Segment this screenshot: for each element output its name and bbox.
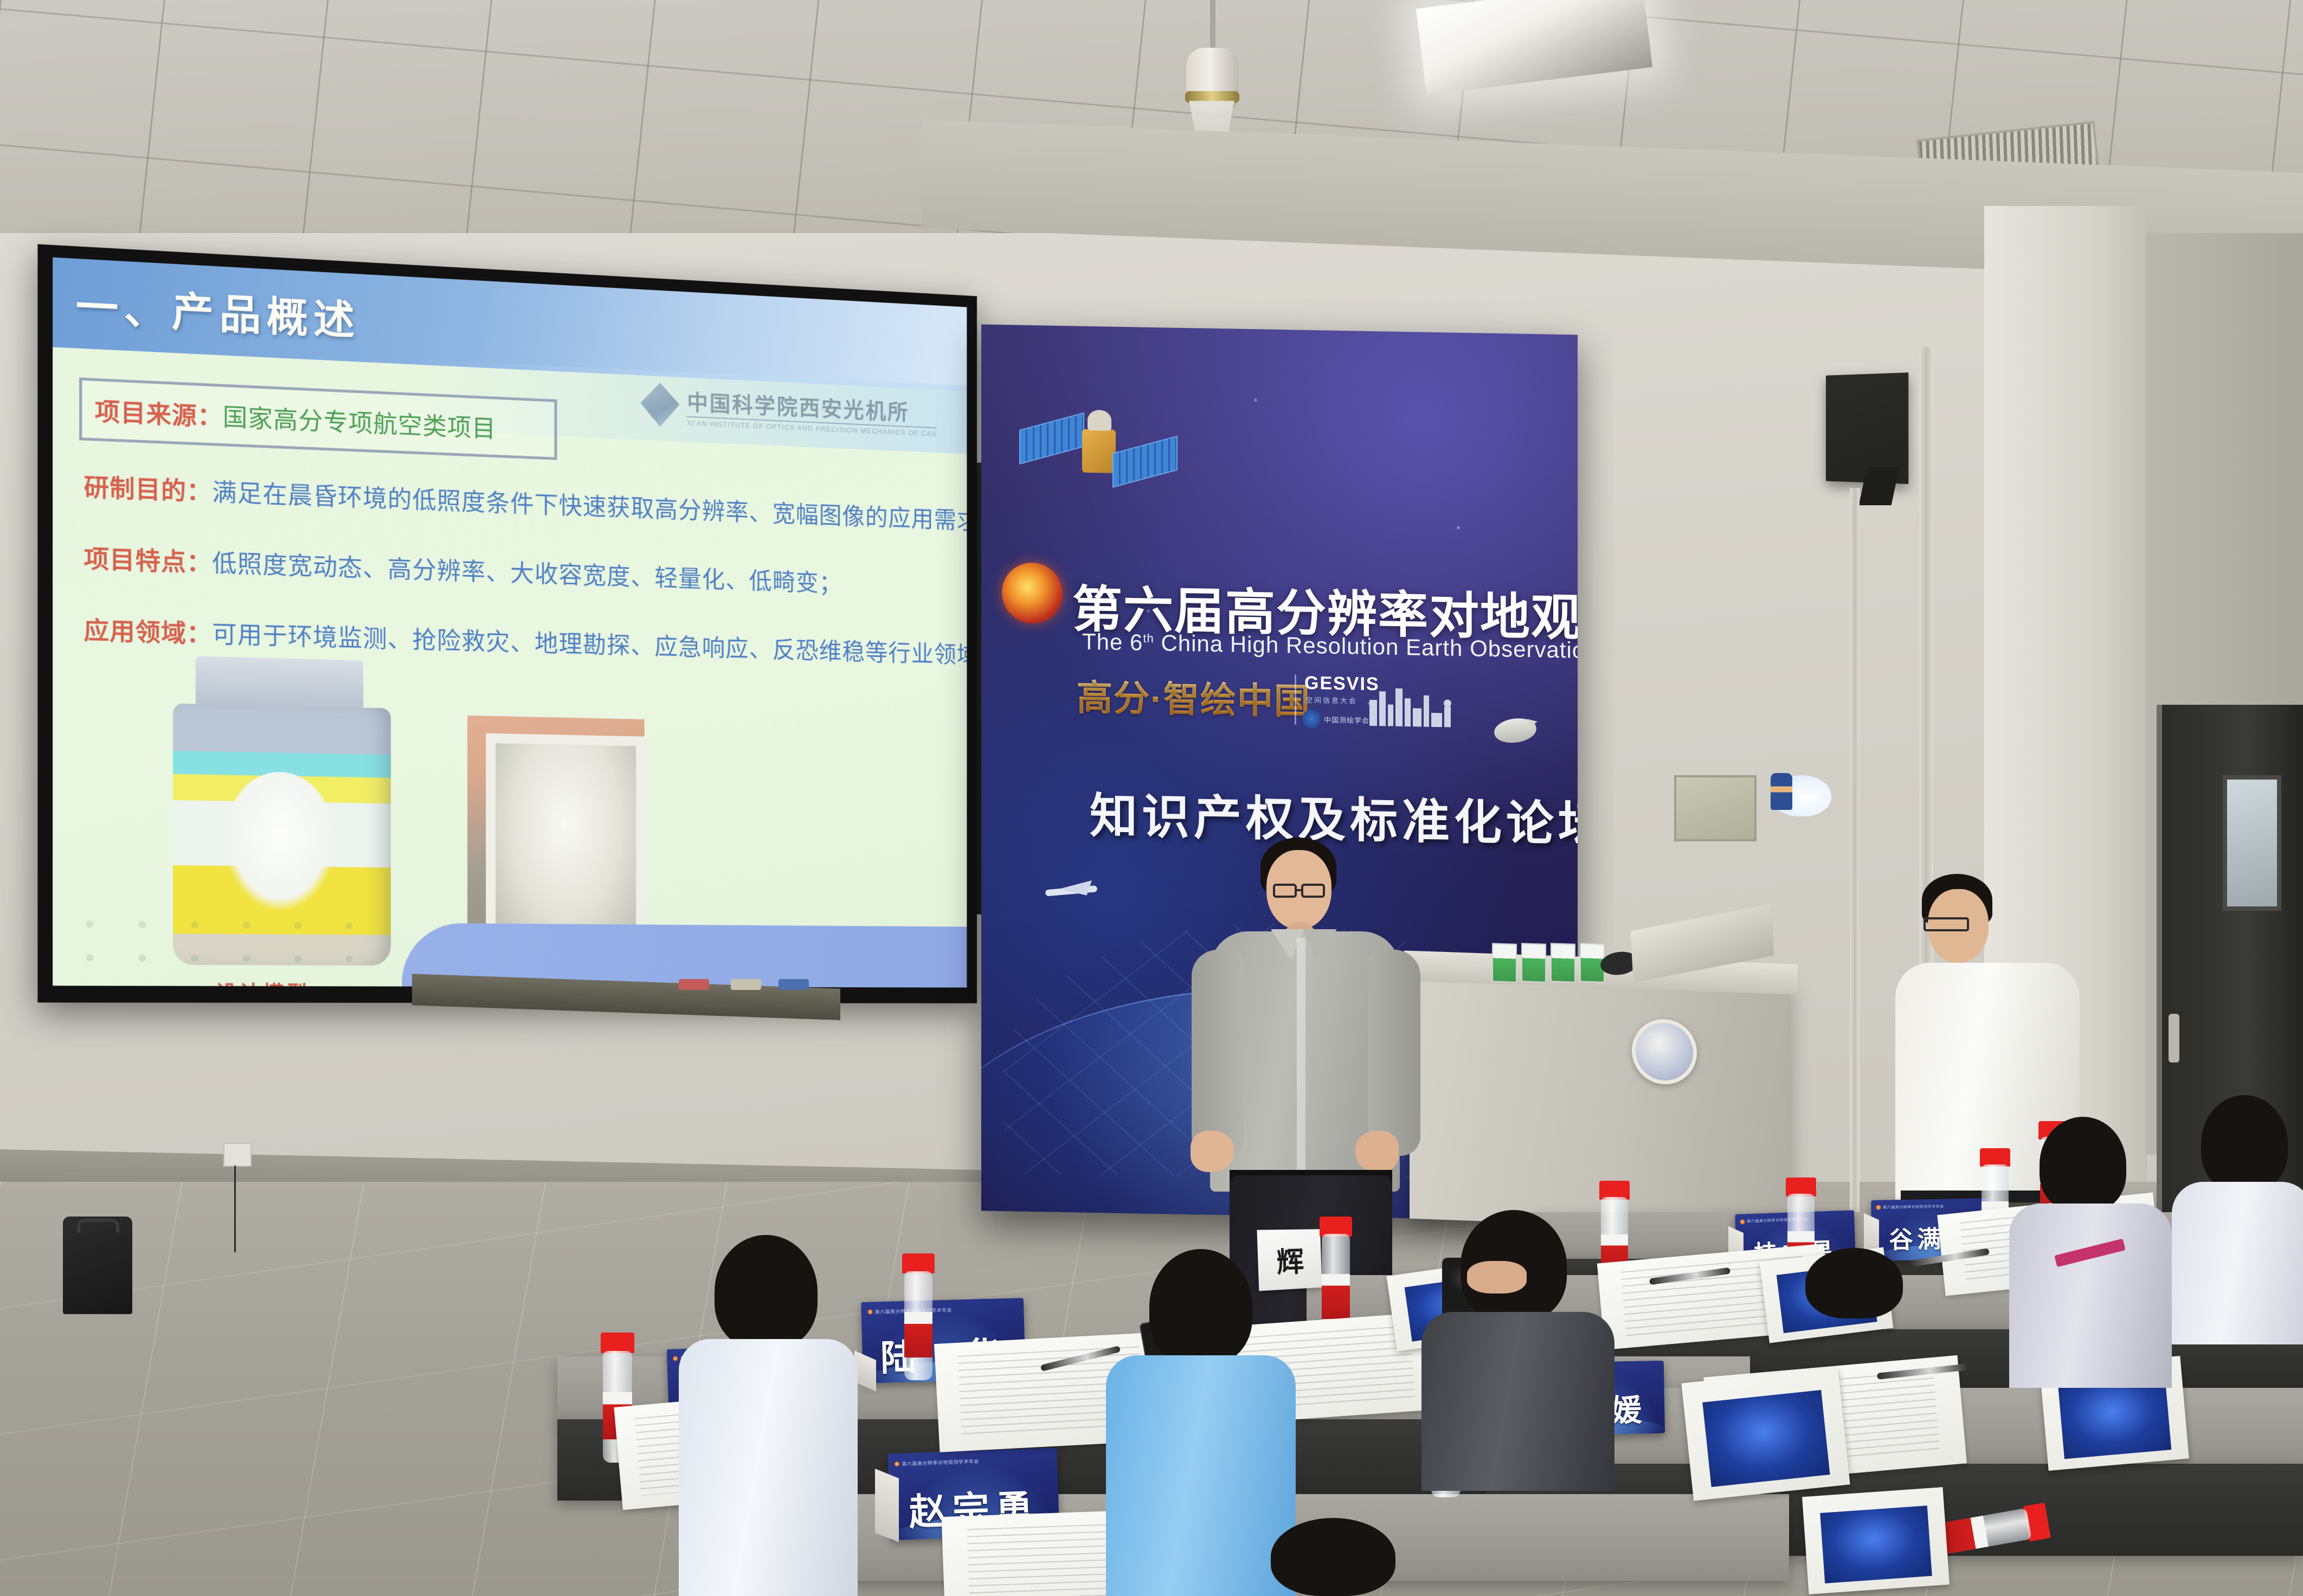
beverage-carton: [1521, 943, 1546, 983]
aircraft-icon: [1038, 877, 1103, 903]
presenter-glasses-bridge: [1296, 889, 1303, 891]
ceiling-fan-rod: [1210, 0, 1215, 54]
beverage-carton: [1492, 943, 1517, 983]
satellite-dish: [1088, 410, 1111, 431]
satellite-panel-right: [1112, 436, 1178, 488]
wall-conduit-pipe-thin: [1850, 488, 1860, 1214]
slide-line-purpose: 研制目的：满足在晨昏环境的低照度条件下快速获取高分辨率、宽幅图像的应用需求；: [84, 467, 967, 537]
slide-line-features: 项目特点：低照度宽动态、高分辨率、大收容宽度、轻量化、低畸变；: [84, 539, 842, 598]
handwritten-name-card: 辉: [1257, 1229, 1322, 1291]
design-model-caption: 设计模型: [215, 976, 310, 987]
amplifier-handle: [77, 1219, 119, 1233]
placard-emblem-icon: [895, 1462, 899, 1466]
presenter-glasses-right: [1301, 884, 1325, 898]
placard-header: 第六届高分辨率对地观测学术年会: [895, 1457, 979, 1467]
backdrop-slogan: 高分·智绘中国: [1077, 668, 1311, 725]
project-source-label: 项目来源：: [95, 391, 223, 433]
booklet-cover-art: [1702, 1390, 1830, 1487]
slide-footer-decoration: [79, 914, 383, 976]
attendee-head: [2201, 1095, 2288, 1192]
placard-header: 第六届高分辨率对地观测学术年会: [1876, 1204, 1944, 1211]
standing-attendee-glasses: [1924, 917, 1969, 931]
booklet-cover-art: [2058, 1376, 2171, 1459]
purpose-text: 满足在晨昏环境的低照度条件下快速获取高分辨率、宽幅图像的应用需求；: [212, 479, 967, 536]
door-window: [2223, 775, 2281, 911]
presenter-arm-right: [1368, 950, 1420, 1156]
door-handle[interactable]: [2169, 1014, 2179, 1063]
satellite-icon: [1019, 407, 1176, 512]
attendee-head: [1805, 1248, 1903, 1318]
purpose-label: 研制目的：: [84, 474, 212, 506]
cas-diamond-icon: [640, 382, 679, 427]
title-en-prefix: The 6: [1082, 629, 1143, 655]
placard-emblem-icon: [1740, 1219, 1745, 1224]
attendee-face: [1467, 1261, 1527, 1293]
worker-figure-icon: [1771, 773, 1792, 810]
backdrop-divider: [1295, 674, 1296, 724]
power-cord: [234, 1166, 236, 1252]
bottle-cap: [902, 1253, 935, 1273]
bottle-label: [904, 1312, 933, 1357]
placard-emblem-icon: [867, 1309, 872, 1314]
marker-pen-white[interactable]: [731, 979, 761, 990]
bottle-label: [1322, 1274, 1350, 1319]
handwritten-name-text: 辉: [1276, 1239, 1304, 1280]
presenter-arm-left: [1192, 950, 1244, 1156]
satellite-body: [1082, 429, 1116, 473]
booklet-cover-art: [1820, 1506, 1932, 1584]
conference-room-photo: 一、产品概述 中国科学院西安光机所 XI'AN INSTITUTE OF OPT…: [0, 0, 2303, 1596]
city-skyline-icon: [1367, 684, 1459, 728]
water-bottle[interactable]: [902, 1253, 935, 1380]
title-en-ordinal: th: [1143, 632, 1154, 645]
satellite-panel-left: [1019, 413, 1084, 465]
placard-emblem-icon: [673, 1356, 678, 1361]
attendee-head: [715, 1235, 818, 1349]
gesvis-logo-sub: 空间信息大会: [1305, 694, 1358, 706]
placard-emblem-icon: [1876, 1205, 1881, 1210]
projection-screen: 一、产品概述 中国科学院西安光机所 XI'AN INSTITUTE OF OPT…: [37, 244, 977, 1003]
placard-stand: [875, 1469, 899, 1542]
attendee-head: [1149, 1249, 1252, 1365]
beverage-carton: [1551, 943, 1575, 983]
conference-emblem-icon: [1002, 562, 1063, 624]
conference-proceedings-booklet[interactable]: [1681, 1367, 1850, 1501]
wall-power-socket[interactable]: [223, 1143, 252, 1167]
attendee-body: [1106, 1355, 1296, 1596]
presenter-hand-right: [1355, 1131, 1399, 1172]
features-text: 低照度宽动态、高分辨率、大收容宽度、轻量化、低畸变；: [212, 550, 842, 597]
camera-hardware-photo: [467, 716, 645, 950]
attendee-body: [2009, 1204, 2172, 1388]
applications-label: 应用领域：: [84, 617, 212, 648]
organizer-seal-icon: [1302, 710, 1321, 729]
presentation-slide: 一、产品概述 中国科学院西安光机所 XI'AN INSTITUTE OF OPT…: [53, 258, 967, 988]
placard-header-text: 第六届高分辨率对地观测学术年会: [902, 1457, 979, 1467]
forum-name: 知识产权及标准化论坛: [1090, 777, 1578, 855]
marker-pen-red[interactable]: [679, 979, 709, 990]
project-source-value: 国家高分专项航空类项目: [223, 397, 496, 445]
attendee-body: [679, 1339, 858, 1596]
attendee-head: [2040, 1117, 2126, 1212]
organizer-name: 中国测绘学会: [1324, 714, 1369, 725]
attendee-body: [1421, 1312, 1614, 1491]
conference-proceedings-booklet[interactable]: [1802, 1487, 1950, 1594]
marker-pen-blue[interactable]: [779, 979, 809, 990]
placard-header-text: 第六届高分辨率对地观测学术年会: [1883, 1204, 1944, 1211]
organizer-logo: 中国测绘学会: [1302, 710, 1369, 729]
presenter-glasses-left: [1273, 884, 1297, 898]
attendee-body: [2172, 1182, 2303, 1344]
bottle-cap: [601, 1333, 634, 1353]
electrical-box: [1674, 775, 1757, 841]
presenter-hand-left: [1191, 1131, 1234, 1172]
presenter-shirt-placket: [1297, 938, 1305, 1182]
attendee-head: [1271, 1518, 1395, 1596]
features-label: 项目特点：: [84, 546, 212, 577]
